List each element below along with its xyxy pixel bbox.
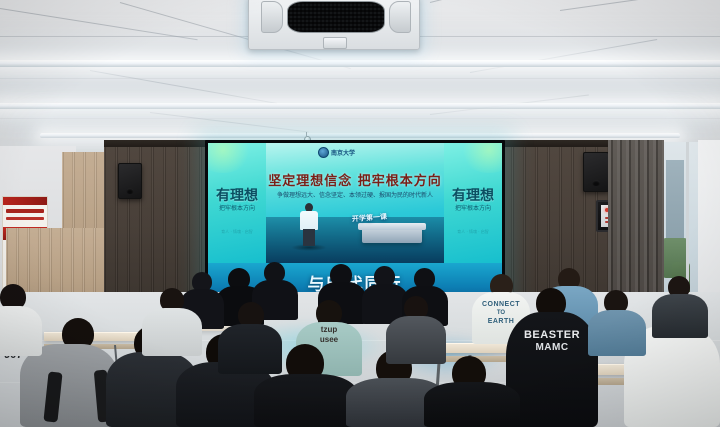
calligraphy-left: 有理想 <box>208 185 266 205</box>
slide-subtitle: 争做理想远大、信念坚定、本领过硬、报国为民的时代新人 <box>266 190 444 199</box>
led-screen[interactable]: 有理想 把牢根本方向 育人 · 铸魂 · 启智 南京大学 坚定理想信念 把牢根本… <box>208 143 502 263</box>
shirt-text-line2: MAMC <box>506 343 598 354</box>
university-logo: 南京大学 <box>318 147 355 158</box>
panel-glow <box>460 143 502 173</box>
lecture-hall-photo: 有理想 把牢根本方向 育人 · 铸魂 · 启智 南京大学 坚定理想信念 把牢根本… <box>0 0 720 427</box>
audience-body <box>218 324 282 374</box>
ac-vane <box>389 1 411 33</box>
shirt-text-line2: TO <box>472 310 530 316</box>
calligraphy-right: 有理想 <box>444 185 502 205</box>
calligraphy-caption-right: 把牢根本方向 <box>444 203 502 212</box>
audience-body <box>254 374 358 427</box>
ceiling-seam <box>0 118 720 119</box>
audience-body <box>142 308 202 356</box>
wall-top-trim <box>104 140 216 147</box>
university-logo-text: 南京大学 <box>331 148 355 157</box>
slide-title: 坚定理想信念 把牢根本方向 <box>266 170 444 189</box>
slide-side-panel-right: 有理想 把牢根本方向 育人 · 铸魂 · 启智 <box>444 143 502 263</box>
ceiling-seam <box>0 78 720 79</box>
audience-body <box>652 294 708 338</box>
ceiling-ac-unit <box>248 0 420 50</box>
wall-speaker-right <box>583 152 609 192</box>
calligraphy-caption-left: 把牢根本方向 <box>208 203 266 212</box>
shirt-text-line1: BEASTER <box>506 330 598 342</box>
wall-top-trim <box>500 140 608 147</box>
panel-glow <box>208 143 252 173</box>
shirt-text-line1: CONNECT <box>472 301 530 308</box>
university-logo-mark <box>318 147 329 158</box>
ceiling-light-strip <box>0 60 720 67</box>
slide-main: 南京大学 坚定理想信念 把牢根本方向 争做理想远大、信念坚定、本领过硬、报国为民… <box>266 143 444 263</box>
ceiling-light-strip <box>0 103 720 109</box>
slide-podium-top <box>358 223 426 230</box>
slide-side-panel-left: 有理想 把牢根本方向 育人 · 铸魂 · 启智 <box>208 143 266 263</box>
calligraphy-faint-right: 育人 · 铸魂 · 启智 <box>444 229 502 235</box>
audience-body <box>0 306 42 356</box>
presenter-torso <box>300 211 318 230</box>
ceiling-light-strip <box>40 133 680 138</box>
audience-body <box>588 310 646 356</box>
window-building <box>666 160 684 246</box>
wall-speaker-left <box>118 163 142 199</box>
ac-vane <box>261 1 283 33</box>
calligraphy-faint-left: 育人 · 铸魂 · 启智 <box>208 229 266 235</box>
ac-sensor <box>323 37 347 49</box>
audience-body <box>386 316 446 364</box>
presenter-legs <box>303 229 315 246</box>
ac-grille <box>287 1 385 33</box>
shirt-text-line1: tzup <box>296 326 362 334</box>
audience-body <box>424 382 520 427</box>
